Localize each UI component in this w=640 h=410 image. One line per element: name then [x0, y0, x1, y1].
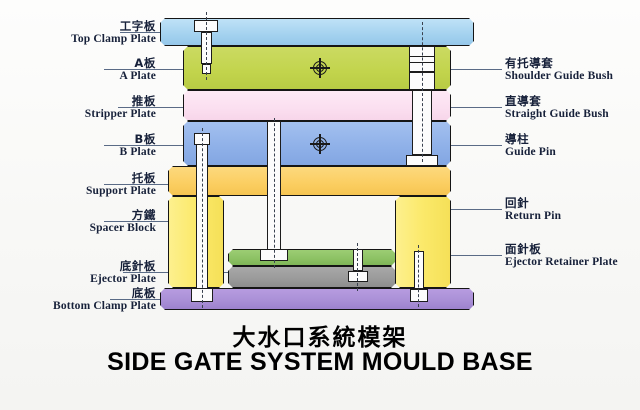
leader-a-plate	[104, 69, 190, 70]
bottom-screw-head	[410, 289, 428, 302]
leader-stripper-plate	[118, 107, 190, 108]
label-support-plate: 托板 Support Plate	[86, 172, 156, 198]
label-return-pin: 回針 Return Pin	[505, 197, 561, 223]
label-a-plate: A板 A Plate	[120, 57, 157, 83]
label-a-plate-en: A Plate	[120, 70, 157, 83]
label-shoulder-guide-bush: 有托導套 Shoulder Guide Bush	[505, 57, 613, 83]
label-stripper-plate-en: Stripper Plate	[85, 108, 156, 121]
cap-screw-centerline	[206, 12, 207, 80]
label-support-plate-en: Support Plate	[86, 185, 156, 198]
crosshair-icon-a-plate	[310, 58, 330, 78]
label-spacer-block-en: Spacer Block	[90, 222, 156, 235]
ejector-retainer-plate	[228, 249, 396, 266]
label-b-plate-en: B Plate	[120, 146, 157, 159]
label-guide-pin: 導柱 Guide Pin	[505, 133, 556, 159]
label-ejector-retainer-plate-en: Ejector Retainer Plate	[505, 256, 618, 269]
label-spacer-block: 方鐵 Spacer Block	[90, 209, 156, 235]
label-straight-guide-bush: 直導套 Straight Guide Bush	[505, 95, 609, 121]
label-bottom-clamp-plate: 底板 Bottom Clamp Plate	[53, 287, 156, 313]
label-shoulder-guide-bush-cn: 有托導套	[505, 57, 613, 70]
crosshair-icon-b-plate	[310, 134, 330, 154]
crosshair-ring-inner	[316, 140, 324, 148]
return-pin-centerline	[357, 243, 358, 291]
return-pin-shank	[353, 249, 363, 271]
support-pillar-centerline	[202, 128, 203, 308]
label-b-plate: B板 B Plate	[120, 133, 157, 159]
label-ejector-plate-en: Ejector Plate	[90, 273, 156, 286]
label-top-clamp-plate-en: Top Clamp Plate	[71, 33, 156, 46]
sprue-centerline	[274, 118, 275, 268]
label-return-pin-cn: 回針	[505, 197, 561, 210]
leader-return-pin	[443, 209, 502, 210]
stripper-plate	[183, 90, 451, 121]
label-guide-pin-en: Guide Pin	[505, 146, 556, 159]
label-ejector-retainer-plate: 面針板 Ejector Retainer Plate	[505, 243, 618, 269]
title-english: SIDE GATE SYSTEM MOULD BASE	[0, 348, 640, 377]
label-guide-pin-cn: 導柱	[505, 133, 556, 146]
support-plate	[168, 166, 451, 196]
title-chinese: 大水口系統模架	[0, 318, 640, 352]
label-return-pin-en: Return Pin	[505, 210, 561, 223]
leader-b-plate	[104, 145, 190, 146]
ejector-plate	[228, 266, 396, 288]
label-bottom-clamp-plate-en: Bottom Clamp Plate	[53, 300, 156, 313]
crosshair-ring-inner	[316, 64, 324, 72]
label-ejector-retainer-plate-cn: 面針板	[505, 243, 618, 256]
diagram-canvas: 工字板 Top Clamp Plate A板 A Plate 推板 Stripp…	[0, 0, 640, 410]
label-straight-guide-bush-cn: 直導套	[505, 95, 609, 108]
label-stripper-plate: 推板 Stripper Plate	[85, 95, 156, 121]
return-pin-head	[348, 271, 368, 282]
label-top-clamp-plate: 工字板 Top Clamp Plate	[71, 20, 156, 46]
label-straight-guide-bush-en: Straight Guide Bush	[505, 108, 609, 121]
bottom-screw-centerline	[418, 245, 419, 307]
guide-pin-centerline	[422, 22, 423, 162]
label-ejector-plate: 底針板 Ejector Plate	[90, 260, 156, 286]
bottom-screw-shank	[414, 251, 424, 289]
label-shoulder-guide-bush-en: Shoulder Guide Bush	[505, 70, 613, 83]
